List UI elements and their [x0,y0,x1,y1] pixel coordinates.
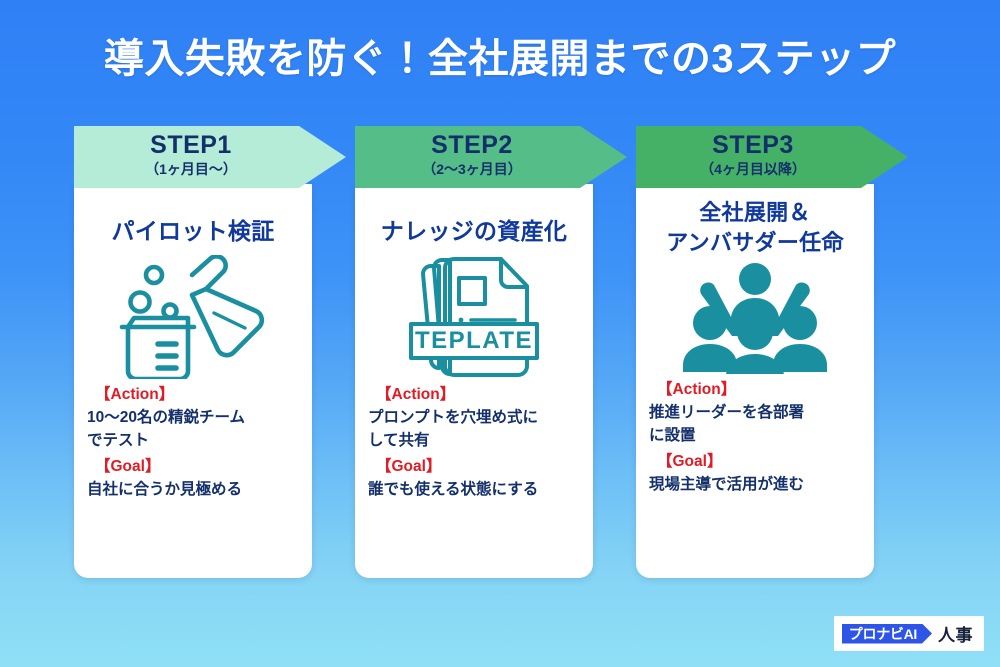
beaker-flask-icon [74,251,312,383]
step3-banner-period: （4ヶ月目以降） [636,160,908,178]
step3-banner: STEP3 （4ヶ月目以降） [636,126,908,188]
brand-logo-tag: プロナビAI [842,624,932,644]
brand-logo-word: 人事 [938,621,973,646]
step1-action-tag: 【Action】 [87,383,299,406]
step3-body: 【Action】 推進リーダーを各部署 に設置 【Goal】 現場主導で活用が進… [636,378,874,496]
step1-goal-tag: 【Goal】 [87,455,299,478]
step2-banner-period: （2〜3ヶ月目） [355,160,627,178]
step1-card: パイロット検証 [74,184,312,578]
step2-card: ナレッジの資産化 TEPLATE [355,184,593,578]
step3-card-title-line-2: アンバサダー任命 [642,228,868,258]
step2-banner: STEP2 （2〜3ヶ月目） [355,126,627,188]
step3-action-line-1: 推進リーダーを各部署 [649,401,861,424]
step-column-1: STEP1 （1ヶ月目〜） パイロット検証 [74,126,312,578]
steps-container: STEP1 （1ヶ月目〜） パイロット検証 [0,126,1000,586]
step1-banner-label: STEP1 [74,130,346,160]
step3-card-title-line-1: 全社展開＆ [642,198,868,228]
step3-banner-label: STEP3 [636,130,908,160]
step3-goal-line-1: 現場主導で活用が進む [649,473,861,496]
page-title: 導入失敗を防ぐ！全社展開までの3ステップ [0,26,1000,84]
step1-goal-line-1: 自社に合うか見極める [87,478,299,501]
step3-goal-tag: 【Goal】 [649,450,861,473]
brand-logo: プロナビAI 人事 [834,616,984,651]
step2-action-tag: 【Action】 [368,383,580,406]
svg-text:TEPLATE: TEPLATE [415,327,533,354]
step3-card-title: 全社展開＆ アンバサダー任命 [636,198,874,258]
step1-banner: STEP1 （1ヶ月目〜） [74,126,346,188]
step3-action-line-2: に設置 [649,424,861,447]
step1-card-title: パイロット検証 [74,216,312,247]
step1-action-line-2: でテスト [87,429,299,452]
step1-banner-period: （1ヶ月目〜） [74,160,346,178]
template-document-icon: TEPLATE [355,251,593,383]
step2-action-line-2: して共有 [368,429,580,452]
step3-card: 全社展開＆ アンバサダー任命 [636,184,874,578]
step3-action-tag: 【Action】 [649,378,861,401]
step1-action-line-1: 10〜20名の精鋭チーム [87,406,299,429]
people-group-icon [636,258,874,378]
step-column-3: STEP3 （4ヶ月目以降） 全社展開＆ アンバサダー任命 [636,126,874,578]
step2-goal-line-1: 誰でも使える状態にする [368,478,580,501]
step2-card-title: ナレッジの資産化 [355,216,593,247]
step-column-2: STEP2 （2〜3ヶ月目） ナレッジの資産化 [355,126,593,578]
step2-action-line-1: プロンプトを穴埋め式に [368,406,580,429]
step1-body: 【Action】 10〜20名の精鋭チーム でテスト 【Goal】 自社に合うか… [74,383,312,501]
step2-body: 【Action】 プロンプトを穴埋め式に して共有 【Goal】 誰でも使える状… [355,383,593,501]
step2-goal-tag: 【Goal】 [368,455,580,478]
step2-banner-label: STEP2 [355,130,627,160]
